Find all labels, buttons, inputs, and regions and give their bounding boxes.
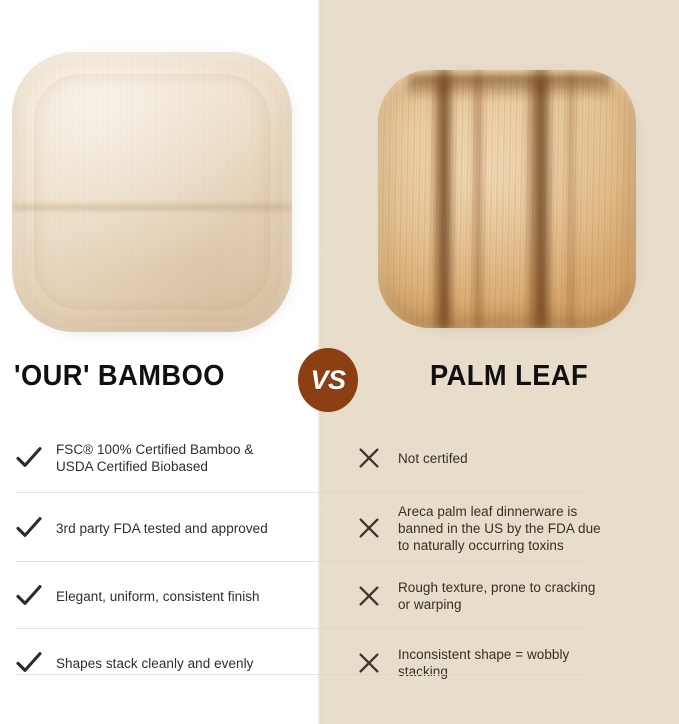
row-divider [16, 674, 586, 675]
table-row: Shapes stack cleanly and evenly Inconsis… [0, 632, 679, 694]
table-row: Elegant, uniform, consistent finish Roug… [0, 565, 679, 627]
table-cell-right: Inconsistent shape = wobbly stacking [320, 632, 679, 694]
table-cell-left: Shapes stack cleanly and evenly [0, 632, 320, 694]
bamboo-node-band [12, 200, 292, 214]
bamboo-plate-image [12, 52, 292, 332]
feature-text: Areca palm leaf dinnerware is banned in … [398, 503, 601, 554]
palm-streak-2 [470, 70, 486, 328]
table-cell-right: Not certifed [320, 426, 679, 490]
feature-text: Not certifed [398, 450, 468, 467]
feature-text: FSC® 100% Certified Bamboo & USDA Certif… [56, 441, 253, 475]
palm-streak-3 [524, 70, 554, 328]
hero-product-images [0, 0, 679, 340]
table-row: FSC® 100% Certified Bamboo & USDA Certif… [0, 426, 679, 490]
left-column-title: 'OUR' BAMBOO [14, 360, 225, 393]
table-cell-left: FSC® 100% Certified Bamboo & USDA Certif… [0, 426, 320, 490]
table-cell-right: Areca palm leaf dinnerware is banned in … [320, 496, 679, 560]
feature-text: Elegant, uniform, consistent finish [56, 588, 260, 605]
cross-icon [358, 517, 398, 539]
palm-streak-4 [564, 70, 578, 328]
table-cell-left: 3rd party FDA tested and approved [0, 496, 320, 560]
row-divider [16, 561, 586, 562]
cross-icon [358, 652, 398, 674]
comparison-table: FSC® 100% Certified Bamboo & USDA Certif… [0, 422, 679, 724]
bamboo-plate-surface [12, 52, 292, 332]
vs-badge-label: VS [310, 365, 345, 396]
palm-grain-texture [378, 70, 636, 328]
check-icon [16, 584, 56, 608]
vs-badge: VS [298, 348, 358, 412]
palm-streak-1 [430, 70, 456, 328]
check-icon [16, 446, 56, 470]
palm-plate-surface [378, 70, 636, 328]
comparison-infographic: 'OUR' BAMBOO PALM LEAF VS FSC® 100% Cert… [0, 0, 679, 724]
bamboo-grain-texture [12, 52, 292, 332]
feature-text: Rough texture, prone to cracking or warp… [398, 579, 595, 613]
feature-text: Shapes stack cleanly and evenly [56, 655, 253, 672]
feature-text: 3rd party FDA tested and approved [56, 520, 268, 537]
palm-leaf-plate-image [378, 70, 636, 328]
row-divider [16, 628, 586, 629]
cross-icon [358, 447, 398, 469]
cross-icon [358, 585, 398, 607]
palm-top-scorch [408, 74, 610, 100]
right-column-title: PALM LEAF [430, 360, 588, 393]
table-cell-left: Elegant, uniform, consistent finish [0, 565, 320, 627]
table-row: 3rd party FDA tested and approved Areca … [0, 496, 679, 560]
check-icon [16, 651, 56, 675]
check-icon [16, 516, 56, 540]
table-cell-right: Rough texture, prone to cracking or warp… [320, 565, 679, 627]
row-divider [16, 492, 586, 493]
